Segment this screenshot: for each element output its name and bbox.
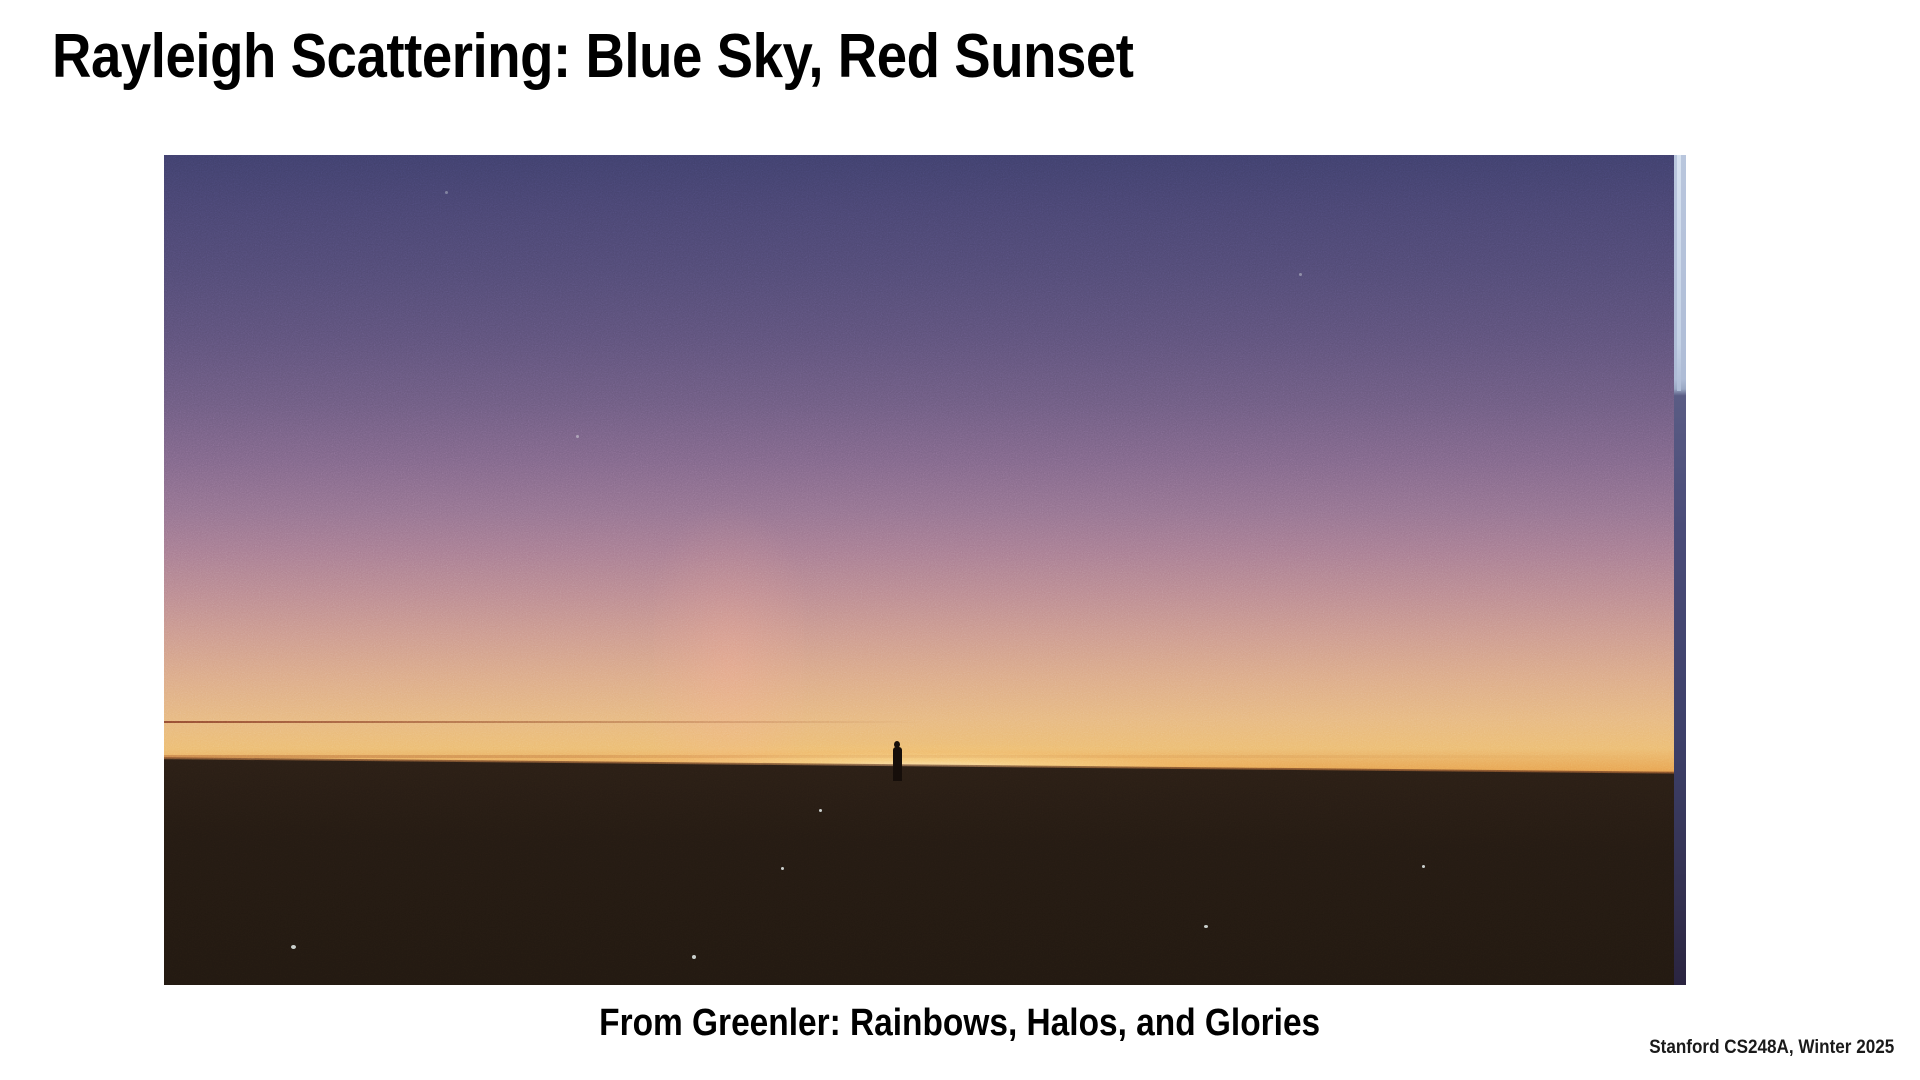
- photo-frame: [164, 155, 1686, 985]
- slide-root: Rayleigh Scattering: Blue Sky, Red Sunse…: [0, 0, 1920, 1080]
- slide-footer: Stanford CS248A, Winter 2025: [1622, 1036, 1894, 1060]
- page-title: Rayleigh Scattering: Blue Sky, Red Sunse…: [52, 18, 1548, 96]
- ground-plane: [164, 759, 1674, 985]
- photo-caption-text: From Greenler: Rainbows, Halos, and Glor…: [600, 1000, 1321, 1046]
- slide-footer-text: Stanford CS248A, Winter 2025: [1649, 1036, 1894, 1060]
- silhouette-figure: [893, 747, 902, 781]
- sunset-photograph: [164, 155, 1674, 985]
- scan-edge-highlight: [1677, 155, 1681, 391]
